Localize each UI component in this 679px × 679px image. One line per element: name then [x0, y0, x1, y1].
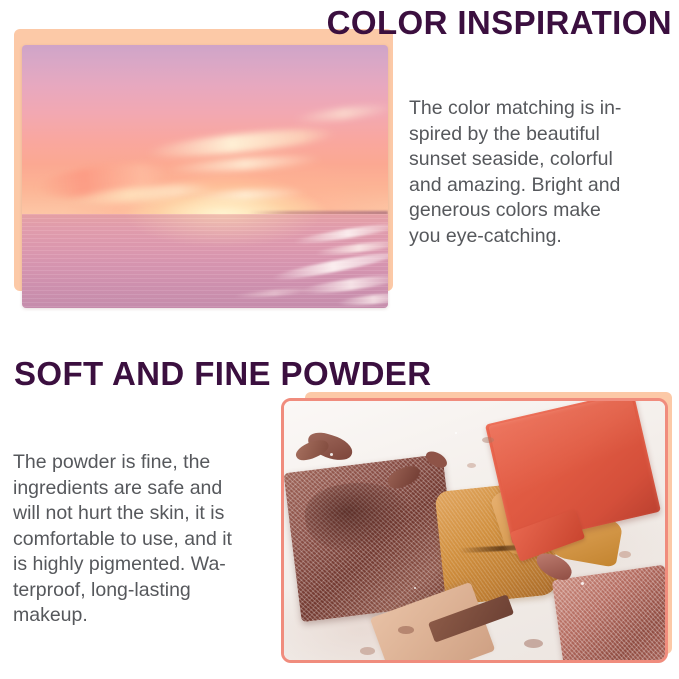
- section-body-color-inspiration: The color matching is in- spired by the …: [409, 96, 671, 249]
- sparkle-icon: [330, 453, 333, 456]
- section-heading-soft-and-fine-powder: SOFT AND FINE POWDER: [14, 357, 431, 390]
- product-feature-page: COLOR INSPIRATION The color matching is …: [0, 0, 679, 679]
- section-body-soft-and-fine-powder: The powder is fine, the ingredients are …: [13, 450, 281, 629]
- powder-dust: [467, 463, 477, 468]
- sunset-seaside-photo: [22, 45, 388, 308]
- powder-dust: [398, 626, 413, 634]
- powder-dust: [619, 551, 630, 557]
- section-heading-color-inspiration: COLOR INSPIRATION: [327, 6, 672, 39]
- photo-backdrop: [284, 401, 665, 660]
- powder-dust: [524, 639, 543, 648]
- powder-pan-pink-glitter: [552, 564, 668, 663]
- sparkle-icon: [455, 432, 457, 434]
- broken-eyeshadow-powder-photo: [281, 398, 668, 663]
- powder-dust: [294, 436, 332, 465]
- powder-dust: [360, 647, 375, 655]
